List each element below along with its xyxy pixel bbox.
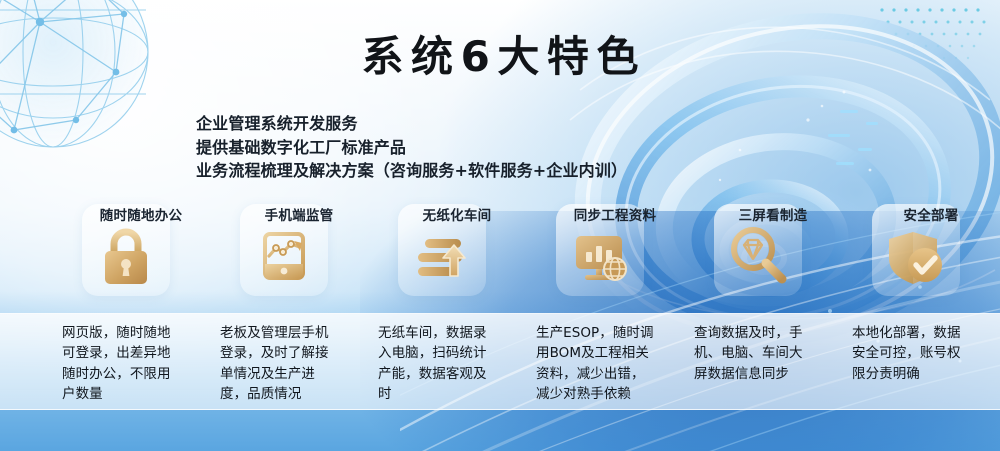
description-text-2: 老板及管理层手机登录，及时了解接单情况及生产进度，品质情况 — [220, 323, 342, 404]
description-2: 老板及管理层手机登录，及时了解接单情况及生产进度，品质情况 — [220, 313, 378, 408]
description-1: 网页版，随时随地可登录，出差异地随时办公，不限用户数量 — [62, 313, 220, 408]
shield-check-icon — [880, 220, 952, 292]
feature-row: 随时随地办公 手机端监管 — [0, 196, 1000, 316]
feature-card-5[interactable]: 三屏看制造 — [694, 196, 852, 316]
feature-label-5: 三屏看制造 — [694, 204, 852, 224]
feature-card-6[interactable]: 安全部署 — [852, 196, 1000, 316]
description-text-6: 本地化部署，数据安全可控，账号权限分责明确 — [852, 323, 974, 384]
description-4: 生产ESOP，随时调用BOM及工程相关资料，减少出错，减少对熟手依赖 — [536, 313, 694, 408]
description-row: 网页版，随时随地可登录，出差异地随时办公，不限用户数量 老板及管理层手机登录，及… — [0, 313, 1000, 408]
feature-label-2: 手机端监管 — [220, 204, 378, 224]
description-text-5: 查询数据及时，手机、电脑、车间大屏数据信息同步 — [694, 323, 816, 384]
description-text-4: 生产ESOP，随时调用BOM及工程相关资料，减少出错，减少对熟手依赖 — [536, 323, 658, 404]
description-5: 查询数据及时，手机、电脑、车间大屏数据信息同步 — [694, 313, 852, 408]
feature-label-3: 无纸化车间 — [378, 204, 536, 224]
phone-chart-icon — [248, 220, 320, 292]
magnifier-diamond-icon — [722, 220, 794, 292]
subtitle-line-3: 业务流程梳理及解决方案（咨询服务+软件服务+企业内训） — [196, 159, 627, 183]
feature-card-4[interactable]: 同步工程资料 — [536, 196, 694, 316]
feature-label-4: 同步工程资料 — [536, 204, 694, 224]
description-text-3: 无纸车间，数据录入电脑，扫码统计产能，数据客观及时 — [378, 323, 500, 404]
feature-label-6: 安全部署 — [852, 204, 1000, 224]
description-text-1: 网页版，随时随地可登录，出差异地随时办公，不限用户数量 — [62, 323, 184, 404]
document-arrow-up-icon — [406, 220, 478, 292]
padlock-icon — [90, 220, 162, 292]
page-title: 系统6大特色 — [0, 36, 1000, 78]
feature-card-2[interactable]: 手机端监管 — [220, 196, 378, 316]
subtitle-line-1: 企业管理系统开发服务 — [196, 112, 627, 136]
description-6: 本地化部署，数据安全可控，账号权限分责明确 — [852, 313, 1000, 408]
description-3: 无纸车间，数据录入电脑，扫码统计产能，数据客观及时 — [378, 313, 536, 408]
feature-label-1: 随时随地办公 — [62, 204, 220, 224]
network-globe-icon — [0, 0, 158, 162]
poster-canvas: 系统6大特色 企业管理系统开发服务 提供基础数字化工厂标准产品 业务流程梳理及解… — [0, 0, 1000, 451]
monitor-bar-globe-icon — [564, 220, 636, 292]
feature-card-1[interactable]: 随时随地办公 — [62, 196, 220, 316]
feature-card-3[interactable]: 无纸化车间 — [378, 196, 536, 316]
subtitle-block: 企业管理系统开发服务 提供基础数字化工厂标准产品 业务流程梳理及解决方案（咨询服… — [196, 112, 627, 183]
subtitle-line-2: 提供基础数字化工厂标准产品 — [196, 136, 627, 160]
